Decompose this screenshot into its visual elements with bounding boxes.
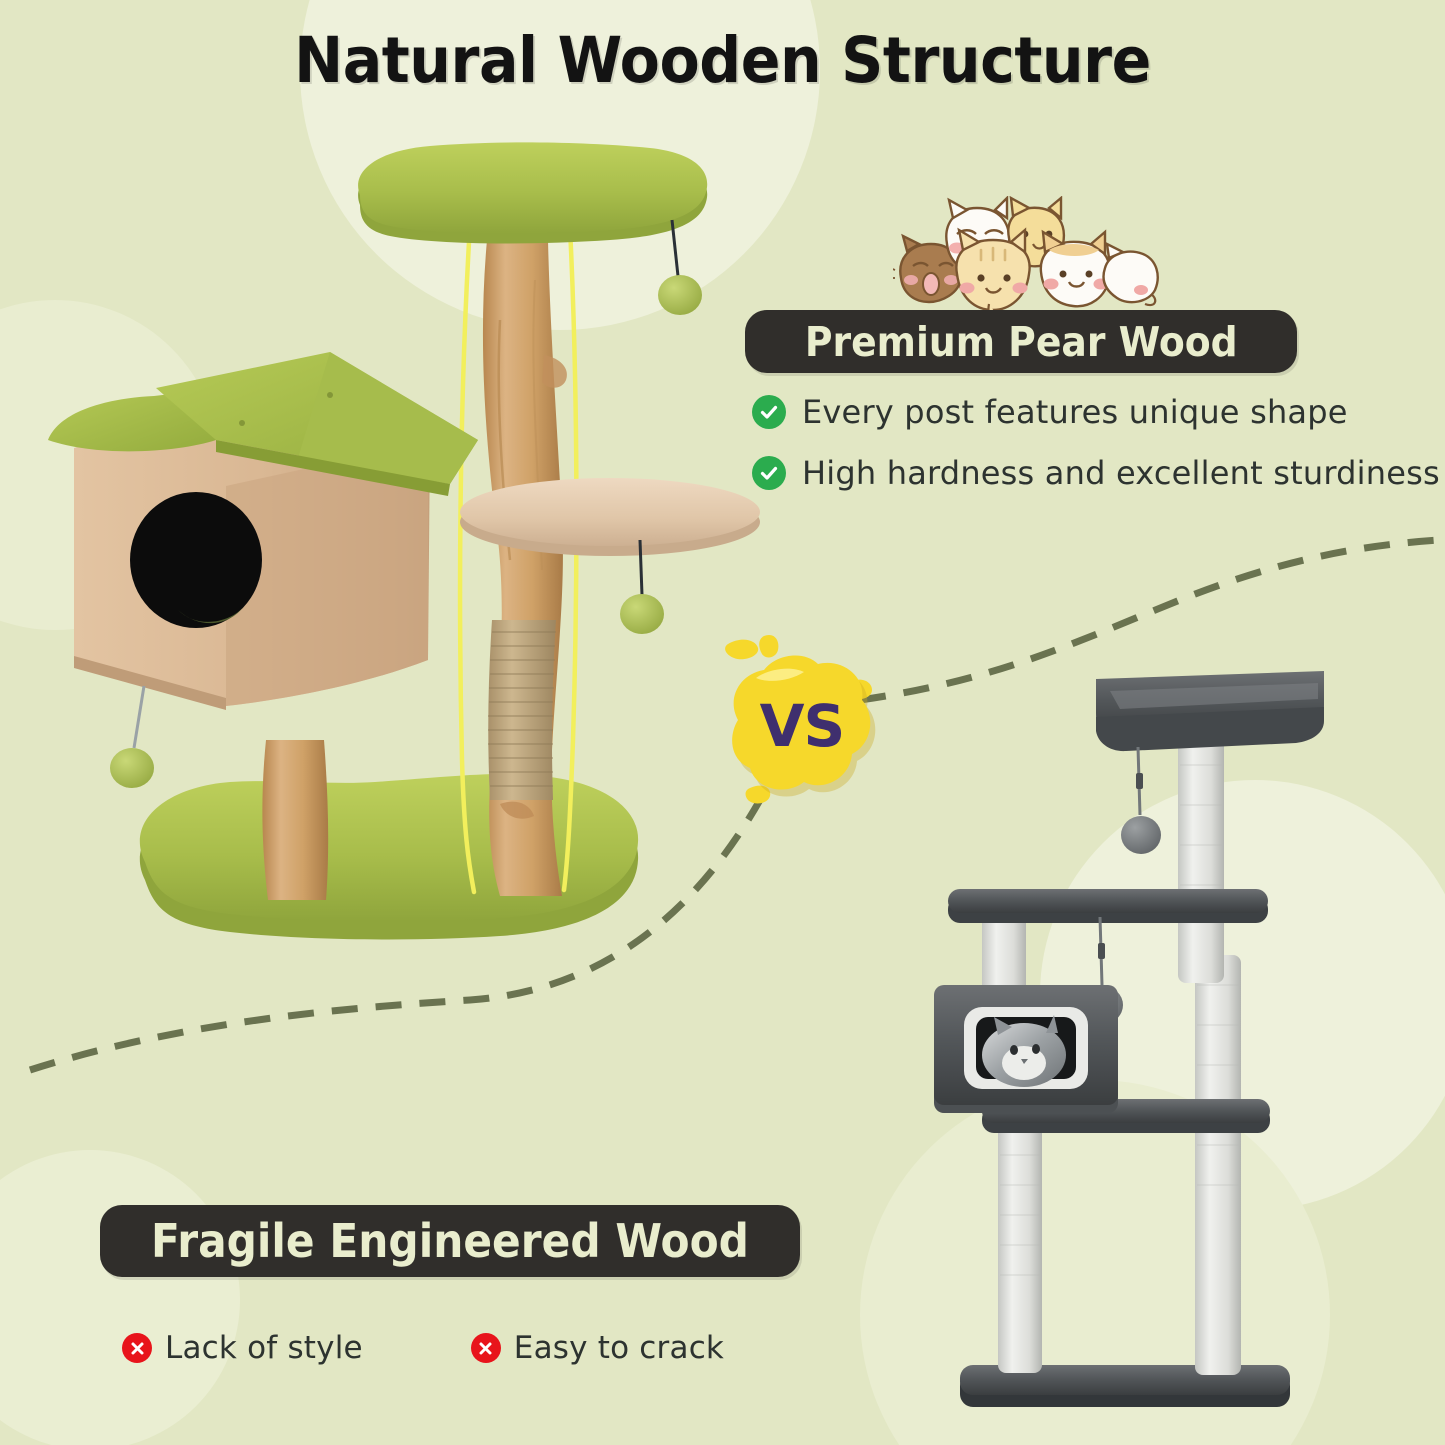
grey-cube-condo	[934, 985, 1118, 1113]
pompom-toy-top	[658, 220, 702, 315]
infographic-canvas: Natural Wooden Structure	[0, 0, 1445, 1445]
pros-list: Every post features unique shape High ha…	[752, 393, 1440, 515]
green-wooden-cat-tree-image	[30, 140, 720, 1000]
wood-leg-under-condo	[262, 740, 328, 900]
kawaii-cats-illustration	[893, 196, 1161, 318]
vs-label: VS	[702, 626, 902, 826]
premium-pear-wood-badge: Premium Pear Wood	[745, 310, 1297, 373]
background-circle-bottom-left	[0, 1150, 240, 1445]
top-cradle-bed	[1096, 671, 1324, 751]
cat-orange-white	[1041, 232, 1110, 306]
sisal-rope-wrap	[488, 620, 556, 800]
cross-circle-icon	[122, 1333, 152, 1363]
check-circle-icon	[752, 456, 786, 490]
con-item: Lack of style	[122, 1330, 363, 1366]
fragile-engineered-wood-badge: Fragile Engineered Wood	[100, 1205, 800, 1277]
con-item: Easy to crack	[471, 1330, 724, 1366]
green-plush-base	[140, 774, 638, 939]
mid-platform	[948, 889, 1268, 923]
cross-circle-icon	[471, 1333, 501, 1363]
grey-carpet-cat-tower-image	[920, 655, 1340, 1445]
green-top-platform	[358, 142, 707, 243]
beige-plush-platform	[460, 478, 760, 556]
green-cat-tree-illustration	[30, 140, 720, 1000]
cons-list: Lack of style Easy to crack	[122, 1330, 724, 1366]
vs-badge: VS	[700, 620, 900, 820]
premium-pear-wood-label: Premium Pear Wood	[805, 318, 1238, 366]
pompom-toy-condo	[110, 686, 154, 788]
fragile-engineered-wood-label: Fragile Engineered Wood	[151, 1214, 749, 1268]
sisal-post-left-lower	[998, 1105, 1042, 1373]
sisal-post-top	[1178, 733, 1224, 983]
cat-cream-tabby	[956, 230, 1029, 318]
pro-item: Every post features unique shape	[752, 393, 1440, 431]
grey-cat-tower-illustration	[920, 655, 1340, 1445]
check-circle-icon	[752, 395, 786, 429]
pro-item: High hardness and excellent sturdiness	[752, 454, 1440, 492]
pompom-toy-upper-grey	[1121, 747, 1161, 854]
cat-cluster-svg	[893, 196, 1161, 318]
con-item-label: Lack of style	[165, 1330, 363, 1366]
sisal-post-right-tall	[1195, 955, 1241, 1375]
cat-white-lying	[1104, 244, 1158, 305]
condo-entrance-hole	[130, 492, 262, 628]
con-item-label: Easy to crack	[514, 1330, 724, 1366]
page-title: Natural Wooden Structure	[51, 24, 1395, 97]
birdhouse-cat-condo	[48, 352, 478, 710]
pro-item-label: High hardness and excellent sturdiness	[802, 454, 1440, 492]
pro-item-label: Every post features unique shape	[802, 393, 1348, 431]
